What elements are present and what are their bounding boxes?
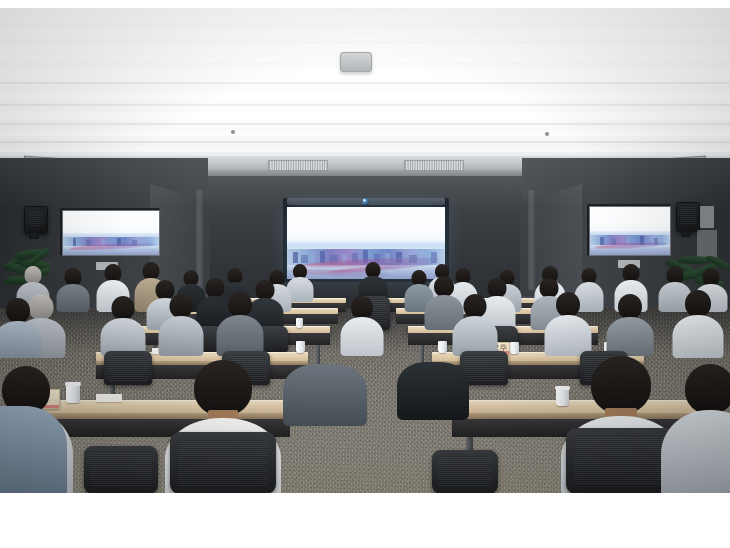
right-side-display — [589, 206, 671, 256]
attendee — [672, 290, 724, 358]
wall-speaker-bracket — [681, 230, 691, 237]
mesh-office-chair — [170, 432, 276, 493]
paper-cup — [296, 341, 305, 353]
photo-page: 张建华 — [0, 0, 730, 548]
ceiling-light-strip — [0, 147, 730, 152]
attendee — [282, 364, 368, 426]
left-side-display — [62, 210, 160, 256]
camera-lens-icon — [362, 198, 369, 205]
attendee — [0, 406, 68, 493]
wall-exit-sign — [700, 206, 714, 228]
attendee — [452, 294, 498, 356]
screen-watermark — [434, 212, 439, 216]
mesh-office-chair — [84, 446, 158, 493]
paper-cup — [510, 342, 519, 354]
mesh-office-chair — [104, 351, 152, 385]
attendee — [396, 362, 470, 420]
document — [96, 394, 122, 402]
ceiling-light-strip — [0, 130, 730, 136]
wall-speaker — [676, 202, 700, 232]
ceiling-projector — [340, 52, 372, 72]
ceiling-light-strip — [0, 92, 730, 100]
ceiling-light-strip — [0, 14, 730, 22]
paper-cup — [296, 318, 303, 328]
ceiling-light-strip — [0, 112, 730, 119]
attendee — [660, 364, 730, 493]
attendee — [606, 294, 654, 356]
ceiling-sensor-icon — [545, 132, 549, 136]
attendee — [216, 292, 264, 356]
ceiling-light-strip — [0, 32, 730, 39]
wall-speaker — [24, 206, 48, 234]
attendee — [0, 298, 42, 358]
paper-cup — [438, 341, 447, 353]
mesh-office-chair — [432, 450, 498, 493]
conference-room-photo: 张建华 — [0, 8, 730, 493]
attendee — [544, 292, 592, 356]
attendee — [340, 296, 384, 356]
attendee — [158, 294, 204, 356]
screen-watermark — [665, 210, 666, 214]
air-vent — [404, 160, 464, 171]
ceiling-sensor-icon — [231, 130, 235, 134]
attendee — [100, 296, 146, 356]
screen-watermark — [154, 214, 155, 218]
air-vent — [268, 160, 328, 171]
